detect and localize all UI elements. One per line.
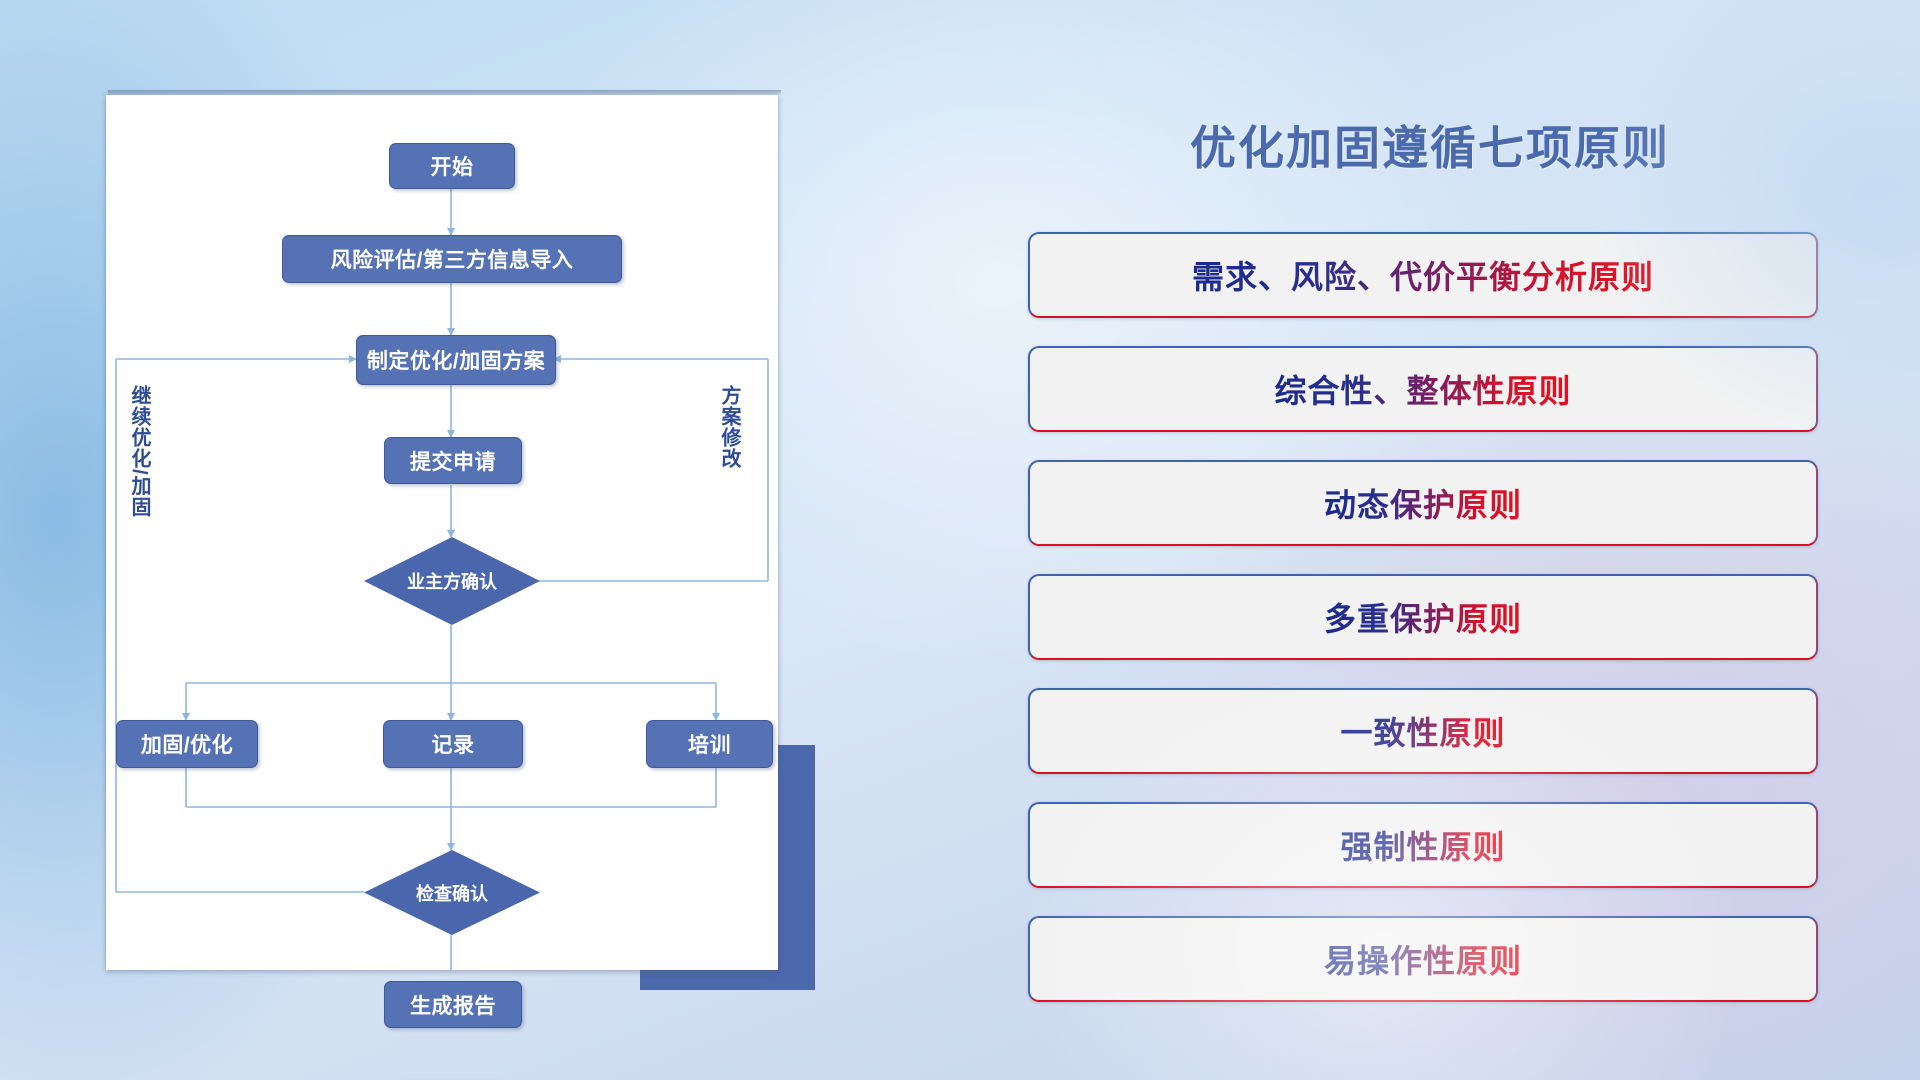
- flow-node-record[interactable]: 记录: [383, 720, 523, 768]
- flow-node-generate-report-label: 生成报告: [410, 990, 496, 1020]
- flow-node-check-confirm[interactable]: 检查确认: [364, 850, 540, 935]
- principle-card-7[interactable]: 易操作性原则: [1028, 916, 1818, 1002]
- principle-card-2[interactable]: 综合性、整体性原则: [1028, 346, 1818, 432]
- flow-node-risk-assessment-label: 风险评估/第三方信息导入: [331, 244, 574, 274]
- flow-edge-label-left-loop: 继续优化/加固: [128, 385, 149, 615]
- flowchart-connectors: [106, 95, 778, 970]
- principles-list: 需求、风险、代价平衡分析原则 综合性、整体性原则 动态保护原则 多重保护原则 一…: [1028, 232, 1818, 1030]
- flow-node-generate-report[interactable]: 生成报告: [384, 981, 522, 1028]
- slide-root: 开始 风险评估/第三方信息导入 制定优化/加固方案 提交申请 业主方确认 加固/…: [0, 0, 1920, 1080]
- flow-node-risk-assessment[interactable]: 风险评估/第三方信息导入: [282, 235, 622, 283]
- principle-card-3[interactable]: 动态保护原则: [1028, 460, 1818, 546]
- flowchart: 开始 风险评估/第三方信息导入 制定优化/加固方案 提交申请 业主方确认 加固/…: [106, 95, 778, 970]
- page-title: 优化加固遵循七项原则: [1040, 112, 1820, 178]
- flow-node-reinforce-label: 加固/优化: [141, 729, 233, 759]
- principle-label: 一致性原则: [1340, 708, 1505, 754]
- flow-edge-label-right-loop: 方案修改: [718, 385, 739, 545]
- principle-card-1[interactable]: 需求、风险、代价平衡分析原则: [1028, 232, 1818, 318]
- flow-node-training-label: 培训: [688, 729, 731, 759]
- principle-card-5[interactable]: 一致性原则: [1028, 688, 1818, 774]
- principle-label: 强制性原则: [1340, 822, 1505, 868]
- flowchart-card: 开始 风险评估/第三方信息导入 制定优化/加固方案 提交申请 业主方确认 加固/…: [106, 95, 778, 970]
- flow-node-start-label: 开始: [431, 151, 474, 181]
- principle-label: 综合性、整体性原则: [1274, 366, 1571, 412]
- principle-label: 动态保护原则: [1324, 480, 1522, 526]
- principle-label: 多重保护原则: [1324, 594, 1522, 640]
- flow-node-owner-confirm-label: 业主方确认: [407, 568, 497, 594]
- principle-card-4[interactable]: 多重保护原则: [1028, 574, 1818, 660]
- flow-node-record-label: 记录: [432, 729, 475, 759]
- flow-node-submit-application[interactable]: 提交申请: [384, 437, 522, 484]
- principle-card-6[interactable]: 强制性原则: [1028, 802, 1818, 888]
- flow-node-make-plan-label: 制定优化/加固方案: [367, 345, 545, 375]
- principle-label: 需求、风险、代价平衡分析原则: [1192, 252, 1654, 298]
- flow-node-owner-confirm[interactable]: 业主方确认: [364, 537, 540, 625]
- flow-node-start[interactable]: 开始: [389, 143, 515, 189]
- flow-node-reinforce[interactable]: 加固/优化: [116, 720, 258, 768]
- flow-node-training[interactable]: 培训: [646, 720, 773, 768]
- flow-node-submit-application-label: 提交申请: [410, 446, 496, 476]
- flow-node-check-confirm-label: 检查确认: [416, 880, 488, 906]
- flow-node-make-plan[interactable]: 制定优化/加固方案: [356, 335, 556, 385]
- principle-label: 易操作性原则: [1324, 936, 1522, 982]
